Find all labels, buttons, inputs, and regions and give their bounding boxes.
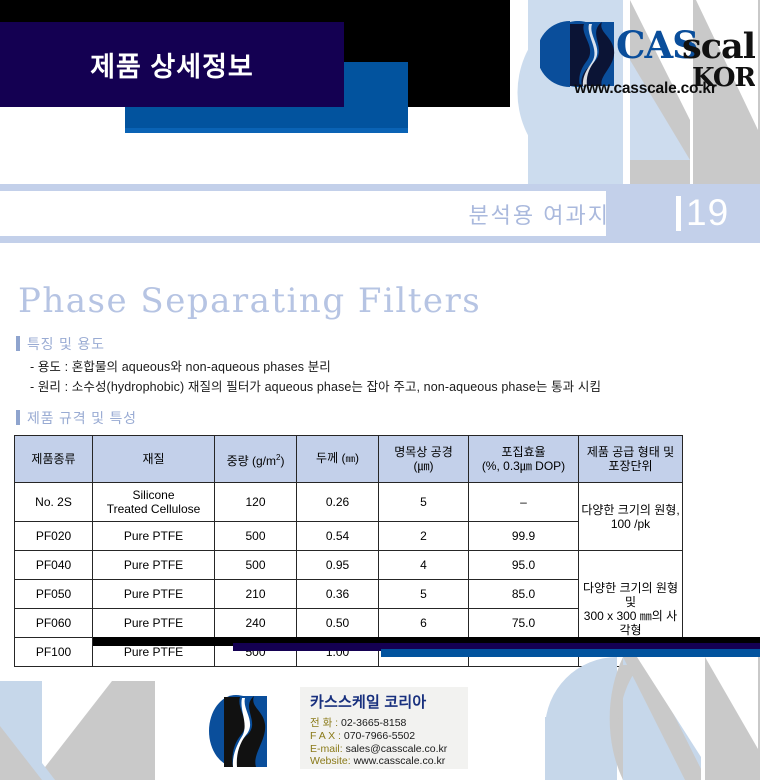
list-item: - 용도 : 혼합물의 aqueous와 non-aqueous phases … — [30, 357, 750, 377]
col-header-supply-line2: 포장단위 — [608, 459, 652, 473]
col-header-weight: 중량 (g/m2) — [215, 436, 297, 483]
cell-type: PF100 — [15, 638, 93, 667]
table-row: No. 2S SiliconeTreated Cellulose 120 0.2… — [15, 483, 683, 522]
cell-thickness: 0.36 — [297, 580, 379, 609]
cell-type: No. 2S — [15, 483, 93, 522]
cell-efficiency: 85.0 — [469, 580, 579, 609]
contact-fax-label: F A X : — [310, 730, 341, 742]
cell-weight: 120 — [215, 483, 297, 522]
cell-supply-1-line2: 100 /pk — [611, 517, 650, 531]
contact-fax-value: 070-7966-5502 — [344, 730, 415, 742]
company-name: 카스스케일 코리아 — [310, 691, 426, 712]
cell-supply-1-line1: 다양한 크기의 원형, — [581, 503, 679, 517]
cell-material-line1: Silicone — [132, 488, 174, 502]
col-header-thickness-unit: ㎜ — [345, 454, 355, 465]
cell-thickness: 0.50 — [297, 609, 379, 638]
category-label: 분석용 여과지 — [430, 192, 610, 235]
cell-type: PF020 — [15, 522, 93, 551]
contact-website: Website: www.casscale.co.kr — [310, 755, 447, 768]
cell-weight: 240 — [215, 609, 297, 638]
footer-left-decoration — [0, 681, 155, 780]
cell-type: PF050 — [15, 580, 93, 609]
cell-weight: 500 — [215, 522, 297, 551]
footer-right-decoration — [545, 657, 760, 780]
contact-email: E-mail: sales@casscale.co.kr — [310, 743, 447, 756]
page-title: 제품 상세정보 — [0, 22, 344, 107]
cell-weight: 210 — [215, 580, 297, 609]
list-item: - 원리 : 소수성(hydrophobic) 재질의 필터가 aqueous … — [30, 377, 750, 397]
contact-phone-value: 02-3665-8158 — [341, 717, 406, 729]
cell-material: Pure PTFE — [93, 522, 215, 551]
cell-type: PF040 — [15, 551, 93, 580]
table-row: PF040 Pure PTFE 500 0.95 4 95.0 다양한 크기의 … — [15, 551, 683, 580]
cell-supply-1: 다양한 크기의 원형,100 /pk — [579, 483, 683, 551]
table-header-row: 제품종류 재질 중량 (g/m2) 두께 (㎜) 명목상 공경(㎛) 포집효율(… — [15, 436, 683, 483]
cell-efficiency: 95.0 — [469, 551, 579, 580]
cell-pore: 5 — [379, 483, 469, 522]
col-header-efficiency-line1: 포집효율 — [501, 445, 545, 459]
contact-email-label: E-mail: — [310, 743, 343, 755]
cell-material: Pure PTFE — [93, 551, 215, 580]
page-number-tick — [676, 196, 681, 231]
cell-thickness: 0.26 — [297, 483, 379, 522]
product-title: Phase Separating Filters — [18, 281, 481, 321]
col-header-weight-paren: ) — [280, 454, 284, 468]
col-header-material: 재질 — [93, 436, 215, 483]
page-number: 19 — [686, 188, 756, 238]
cell-pore: 2 — [379, 522, 469, 551]
cell-efficiency: – — [469, 483, 579, 522]
col-header-efficiency-line2: (%, 0.3㎛ DOP) — [482, 459, 565, 473]
contact-email-value: sales@casscale.co.kr — [346, 743, 448, 755]
header-blue-square — [344, 62, 408, 107]
cell-material-line2: Treated Cellulose — [107, 502, 201, 516]
company-website-url: www.casscale.co.kr — [533, 80, 758, 98]
cell-pore: 5 — [379, 580, 469, 609]
cell-material: Pure PTFE — [93, 609, 215, 638]
band-divider-bottom — [0, 236, 760, 243]
cell-supply-2-line2: 300 x 300 ㎜의 사각형 — [584, 609, 677, 637]
col-header-type: 제품종류 — [15, 436, 93, 483]
cell-efficiency: 75.0 — [469, 609, 579, 638]
product-detail-page: 제품 상세정보 CAS scale KOREA www.casscale.co.… — [0, 0, 760, 780]
contact-phone-label: 전 화 : — [310, 717, 338, 729]
contact-website-label: Website: — [310, 755, 351, 767]
cell-pore: 6 — [379, 609, 469, 638]
col-header-pore-line2: (㎛) — [414, 459, 434, 473]
col-header-supply-line1: 제품 공급 형태 및 — [587, 445, 674, 459]
cas-logo-footer — [207, 694, 269, 769]
svg-text:scale: scale — [682, 26, 755, 67]
cell-thickness: 0.95 — [297, 551, 379, 580]
col-header-thickness-text: 두께 ( — [316, 451, 345, 465]
contact-website-value: www.casscale.co.kr — [354, 755, 446, 767]
cell-thickness: 0.54 — [297, 522, 379, 551]
section-heading-specs: 제품 규격 및 특성 — [16, 408, 137, 428]
feature-bullet-list: - 용도 : 혼합물의 aqueous와 non-aqueous phases … — [30, 357, 750, 397]
contact-phone: 전 화 : 02-3665-8158 — [310, 717, 447, 730]
cell-efficiency: 99.9 — [469, 522, 579, 551]
specification-table: 제품종류 재질 중량 (g/m2) 두께 (㎜) 명목상 공경(㎛) 포집효율(… — [14, 435, 683, 667]
col-header-thickness: 두께 (㎜) — [297, 436, 379, 483]
contact-fax: F A X : 070-7966-5502 — [310, 730, 447, 743]
col-header-weight-text: 중량 (g/m — [227, 454, 276, 468]
cell-weight: 500 — [215, 551, 297, 580]
cell-pore: 4 — [379, 551, 469, 580]
cell-supply-2-line1: 다양한 크기의 원형 및 — [583, 581, 678, 609]
header-blue-bar-accent — [125, 128, 408, 133]
cell-material: SiliconeTreated Cellulose — [93, 483, 215, 522]
cell-material: Pure PTFE — [93, 580, 215, 609]
col-header-supply: 제품 공급 형태 및포장단위 — [579, 436, 683, 483]
col-header-thickness-paren: ) — [355, 451, 359, 465]
contact-details: 전 화 : 02-3665-8158 F A X : 070-7966-5502… — [310, 717, 447, 768]
col-header-pore: 명목상 공경(㎛) — [379, 436, 469, 483]
band-divider-top — [0, 184, 760, 191]
footer-bar-blue — [381, 649, 760, 657]
cell-type: PF060 — [15, 609, 93, 638]
col-header-pore-line1: 명목상 공경 — [394, 445, 453, 459]
col-header-efficiency: 포집효율(%, 0.3㎛ DOP) — [469, 436, 579, 483]
section-heading-features: 특징 및 용도 — [16, 334, 105, 354]
